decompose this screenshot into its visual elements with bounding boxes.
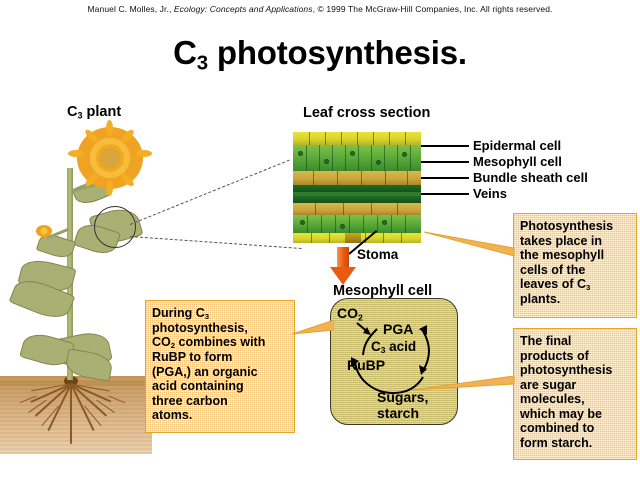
callout-left: During C3 photosynthesis, CO2 combines w… (145, 300, 295, 433)
label-co2-text: CO (337, 305, 358, 321)
flow-arrow-down-icon (330, 247, 356, 285)
magnifier-circle (94, 206, 136, 248)
callout-left-line3: CO2 combines with (152, 335, 290, 350)
callout-left-line4: RuBP to form (152, 350, 290, 365)
callout-br-line3: photosynthesis (520, 363, 632, 378)
layer-upper-epidermis (293, 132, 421, 145)
layer-bundle-sheath-upper (293, 171, 421, 185)
callout-br-line5: molecules, (520, 392, 632, 407)
callout-left-line8: atoms. (152, 408, 290, 423)
label-veins: Veins (473, 186, 507, 201)
stoma-opening (345, 233, 361, 243)
layer-mesophyll-upper (293, 145, 421, 171)
magnifier-leader-lower (130, 236, 302, 249)
label-co2-sub: 2 (358, 312, 363, 322)
copyright-line: Manuel C. Molles, Jr., Ecology: Concepts… (0, 4, 640, 14)
label-starch: starch (377, 405, 428, 421)
callout-left-pointer (292, 320, 334, 346)
label-c3-rest: acid (385, 339, 416, 354)
heading-c3-plant-rest: plant (82, 104, 121, 120)
callout-br-line7: combined to (520, 421, 632, 436)
heading-mesophyll-cell: Mesophyll cell (333, 283, 432, 299)
heading-c3-plant: C3 plant (67, 104, 121, 120)
diagram-canvas: Manuel C. Molles, Jr., Ecology: Concepts… (0, 0, 640, 480)
label-rubp: RuBP (347, 357, 385, 373)
callout-br-line2: products of (520, 349, 632, 364)
copyright-booktitle: Ecology: Concepts and Applications (174, 4, 313, 14)
copyright-rights: , © 1999 The McGraw-Hill Companies, Inc.… (313, 4, 553, 14)
callout-bottom-right-pointer (412, 376, 516, 400)
mesophyll-cell-diagram: CO2 PGA C3 acid RuBP Sugars, starch (330, 298, 458, 425)
magnifier-leader-upper (130, 160, 290, 225)
label-c3-acid: C3 acid (371, 339, 416, 355)
label-stoma: Stoma (357, 247, 398, 262)
layer-vein (293, 196, 421, 203)
leader-epidermal (421, 145, 469, 147)
callout-tr-line3: the mesophyll (520, 248, 632, 263)
page-title: C3 photosynthesis. (0, 34, 640, 75)
callout-left-line6: acid containing (152, 379, 290, 394)
callout-left-line1: During C3 (152, 306, 290, 321)
title-subscript: 3 (197, 51, 208, 74)
callout-tr-line4: cells of the (520, 263, 632, 278)
leaf-cross-section-figure (293, 132, 421, 240)
label-mesophyll-cell: Mesophyll cell (473, 154, 562, 169)
callout-left-line2: photosynthesis, (152, 321, 290, 336)
label-bundle-sheath-cell: Bundle sheath cell (473, 170, 588, 185)
layer-mesophyll-lower (293, 215, 421, 233)
plant-flower-small (36, 225, 52, 237)
label-co2: CO2 (337, 305, 363, 322)
callout-tr-line1: Photosynthesis (520, 219, 632, 234)
callout-left-line5: (PGA,) an organic (152, 365, 290, 380)
sunflower-petal (106, 120, 113, 136)
layer-bundle-sheath-lower (293, 203, 421, 215)
layer-vein (293, 185, 421, 192)
heading-c3-plant-c: C (67, 104, 77, 120)
callout-tr-line2: takes place in (520, 234, 632, 249)
callout-br-line1: The final (520, 334, 632, 349)
title-c: C (173, 34, 197, 71)
callout-br-line4: are sugar (520, 378, 632, 393)
callout-bottom-right: The final products of photosynthesis are… (513, 328, 637, 460)
sunflower-petal (68, 150, 84, 157)
title-rest: photosynthesis. (208, 34, 467, 71)
sunflower-petal (136, 150, 152, 157)
callout-top-right-pointer (424, 230, 516, 262)
label-epidermal-cell: Epidermal cell (473, 138, 561, 153)
callout-left-line7: three carbon (152, 394, 290, 409)
label-pga: PGA (383, 321, 413, 337)
callout-br-line8: form starch. (520, 436, 632, 451)
sunflower-petal (106, 180, 113, 196)
callout-top-right: Photosynthesis takes place in the mesoph… (513, 213, 637, 318)
callout-br-line6: which may be (520, 407, 632, 422)
callout-tr-line5: leaves of C3 (520, 277, 632, 292)
heading-leaf-cross-section: Leaf cross section (303, 105, 430, 121)
leader-veins (421, 193, 469, 195)
leader-bundle-sheath (421, 177, 469, 179)
callout-tr-line6: plants. (520, 292, 632, 307)
leader-mesophyll (421, 161, 469, 163)
copyright-author: Manuel C. Molles, Jr., (88, 4, 174, 14)
label-c3-c: C (371, 339, 381, 354)
